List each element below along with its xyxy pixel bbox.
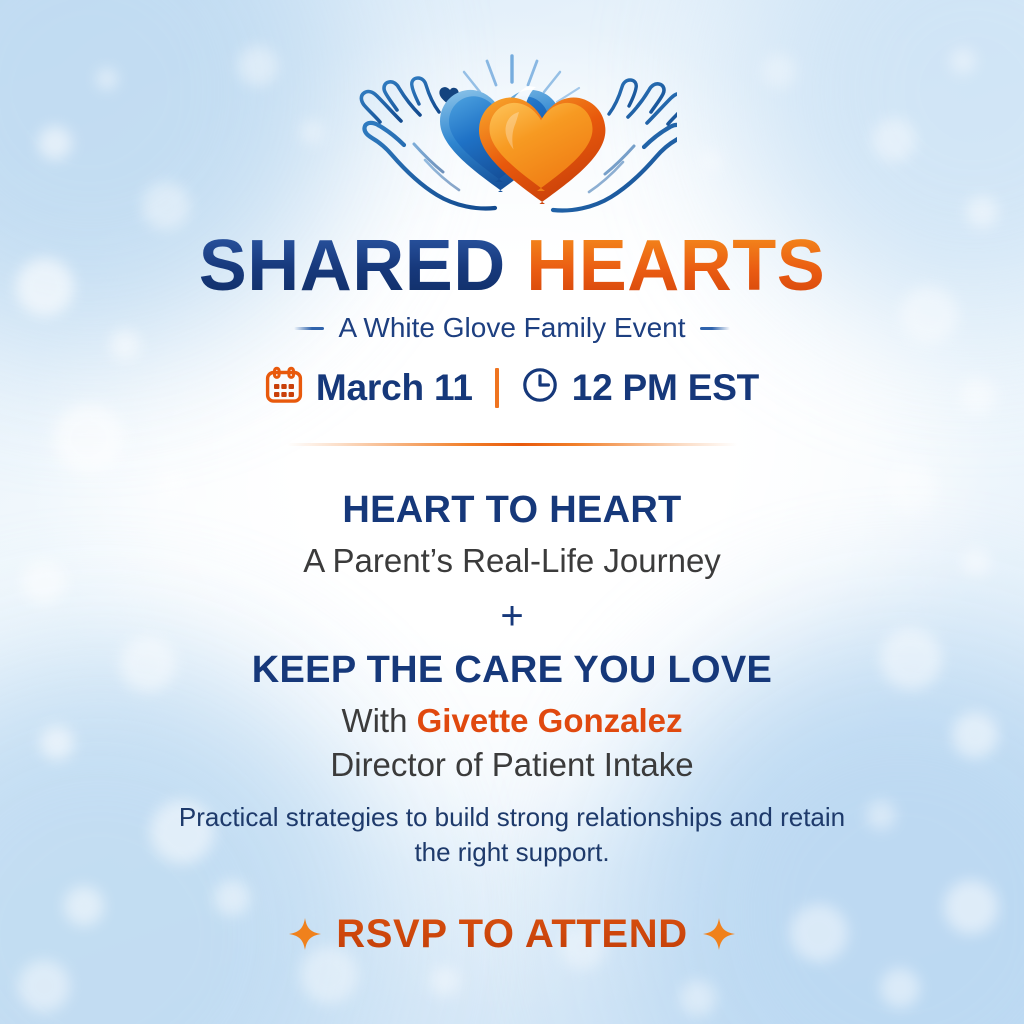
rsvp-call-to-action[interactable]: RSVP TO ATTEND: [288, 912, 735, 957]
event-time-group: 12 PM EST: [521, 366, 759, 409]
speaker-line: With Givette Gonzalez: [167, 702, 857, 740]
session-one: HEART TO HEART A Parent’s Real-Life Jour…: [303, 490, 721, 580]
session-separator: +: [500, 596, 523, 636]
session-two-blurb: Practical strategies to build strong rel…: [167, 800, 857, 870]
event-time: 12 PM EST: [572, 367, 759, 409]
title-word-hearts: HEARTS: [526, 226, 825, 306]
calendar-icon: [265, 366, 303, 409]
datetime-separator: [495, 368, 499, 408]
sparkle-icon-left: [288, 917, 322, 951]
tagline-text: A White Glove Family Event: [338, 312, 685, 344]
session-one-subtitle: A Parent’s Real-Life Journey: [303, 542, 721, 580]
event-flyer: SHARED HEARTS A White Glove Family Event: [0, 0, 1024, 1024]
event-date-group: March 11: [265, 366, 473, 409]
shared-hearts-logo: [347, 52, 677, 224]
speaker-with-label: With: [341, 702, 416, 739]
clock-icon: [521, 366, 559, 409]
title-word-shared: SHARED: [199, 226, 506, 306]
speaker-role: Director of Patient Intake: [167, 746, 857, 784]
event-datetime: March 11 12 PM EST: [265, 366, 759, 409]
page-title: SHARED HEARTS: [199, 230, 826, 302]
tagline-dash-left: [294, 327, 324, 330]
event-date: March 11: [316, 367, 473, 409]
tagline: A White Glove Family Event: [294, 312, 729, 344]
session-two-heading: KEEP THE CARE YOU LOVE: [167, 650, 857, 692]
sparkle-icon-right: [702, 917, 736, 951]
session-two: KEEP THE CARE YOU LOVE With Givette Gonz…: [167, 650, 857, 870]
session-one-heading: HEART TO HEART: [303, 490, 721, 532]
section-divider: [287, 443, 737, 446]
speaker-name: Givette Gonzalez: [417, 702, 683, 739]
tagline-dash-right: [700, 327, 730, 330]
rsvp-label[interactable]: RSVP TO ATTEND: [336, 912, 687, 957]
